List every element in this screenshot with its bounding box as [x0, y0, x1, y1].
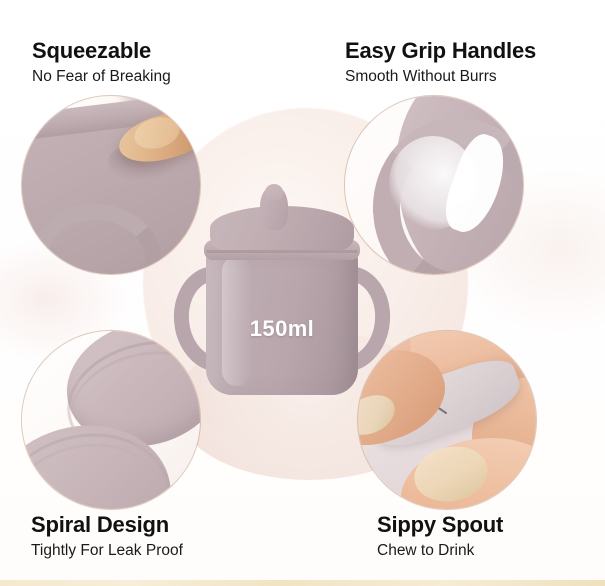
feature-label-spiral-design: Spiral Design Tightly For Leak Proof [31, 512, 183, 560]
infographic-canvas: Squeezable No Fear of Breaking Easy Grip… [0, 0, 605, 586]
cup-spout-tip [265, 184, 283, 200]
bottom-accent-band [0, 580, 605, 586]
feature-heading: Spiral Design [31, 512, 183, 538]
feature-subtitle: Tightly For Leak Proof [31, 541, 183, 560]
feature-label-squeezable: Squeezable No Fear of Breaking [32, 38, 171, 86]
feature-subtitle: Chew to Drink [377, 541, 503, 560]
feature-heading: Squeezable [32, 38, 171, 64]
feature-subtitle: Smooth Without Burrs [345, 67, 536, 86]
volume-label: 150ml [168, 316, 396, 342]
feature-subtitle: No Fear of Breaking [32, 67, 171, 86]
feature-heading: Easy Grip Handles [345, 38, 536, 64]
feature-label-easy-grip-handles: Easy Grip Handles Smooth Without Burrs [345, 38, 536, 86]
feature-heading: Sippy Spout [377, 512, 503, 538]
feature-label-sippy-spout: Sippy Spout Chew to Drink [377, 512, 503, 560]
product-sippy-cup: 150ml [168, 188, 396, 400]
cup-collar-seam [206, 250, 358, 253]
